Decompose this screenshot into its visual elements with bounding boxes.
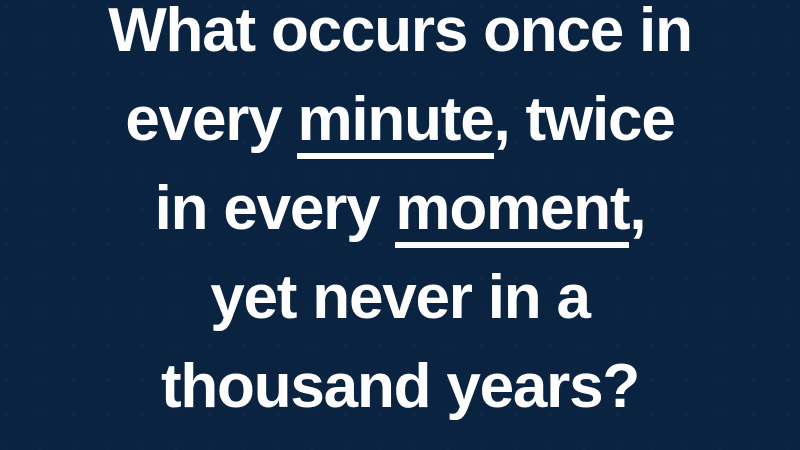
riddle-line-3: in every moment, xyxy=(0,164,800,253)
riddle-question-text: What occurs once in every minute, twice … xyxy=(0,0,800,431)
riddle-line-4-segment-1: yet never in a xyxy=(210,263,590,332)
riddle-line-5-segment-1: thousand years? xyxy=(161,352,639,421)
riddle-line-3-segment-1: in every xyxy=(155,174,396,243)
riddle-emphasis-moment: moment xyxy=(395,164,629,253)
riddle-emphasis-minute: minute xyxy=(297,75,493,164)
riddle-line-4: yet never in a xyxy=(0,253,800,342)
riddle-line-2-segment-3: , twice xyxy=(494,85,675,154)
riddle-line-1-segment-1: What occurs once in xyxy=(108,0,692,65)
riddle-line-5: thousand years? xyxy=(0,342,800,431)
riddle-line-3-segment-3: , xyxy=(629,174,645,243)
riddle-line-2: every minute, twice xyxy=(0,75,800,164)
riddle-line-2-segment-1: every xyxy=(125,85,297,154)
riddle-card: What occurs once in every minute, twice … xyxy=(0,0,800,450)
riddle-line-1: What occurs once in xyxy=(0,0,800,75)
